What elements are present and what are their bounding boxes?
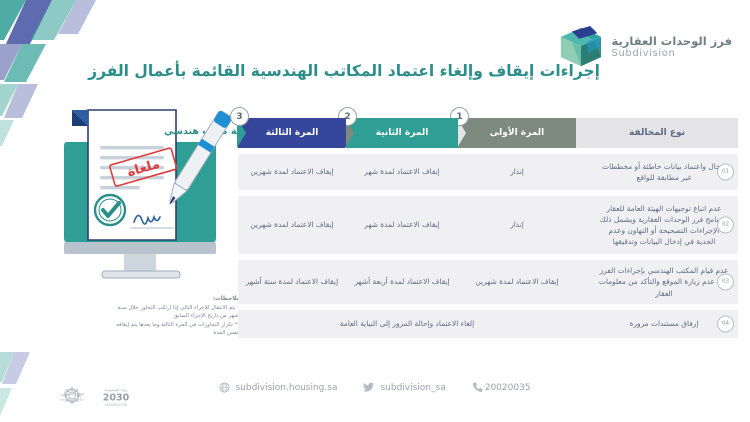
column-header-second-time-label: المرة الثانية	[376, 128, 429, 138]
violation-text: إرفاق مستندات مزورة	[582, 318, 730, 329]
twitter-icon	[363, 382, 375, 393]
violation-text: إدخال واعتماد بيانات خاطئة أو مخططات غير…	[582, 161, 730, 183]
row-number: 02	[717, 217, 734, 234]
row-number: 03	[717, 274, 734, 291]
table-header-row: نوع المخالفة 1 المرة الأولى 2 المرة الثا…	[238, 118, 738, 148]
cell-first-time: إنذار	[458, 154, 576, 190]
footer-phone[interactable]: 20020035	[472, 382, 531, 393]
license-document-illustration: رخصة مكتب هندسي ملغاة	[58, 100, 248, 300]
note-line-1: * يتم الانتقال للإجراء التالي إذا ارتكب …	[108, 304, 240, 321]
page-title: إجراءات إيقاف وإلغاء اعتماد المكاتب الهن…	[150, 62, 600, 80]
table-row: 02 عدم اتباع توجيهات الهيئة العامة للعقا…	[238, 196, 738, 254]
footer-twitter[interactable]: subdivision_sa	[363, 382, 445, 393]
table-row: 01 إدخال واعتماد بيانات خاطئة أو مخططات …	[238, 154, 738, 190]
header: فرز الوحدات العقارية Subdivision إجراءات…	[0, 0, 750, 100]
cell-third-time: إيقاف الاعتماد لمدة ستة أشهر	[238, 260, 346, 304]
table-row: 03 عدم قيام المكتب الهندسي بإجراءات الفر…	[238, 260, 738, 304]
violations-table: نوع المخالفة 1 المرة الأولى 2 المرة الثا…	[238, 118, 738, 338]
footer-phone-label: 20020035	[485, 383, 531, 393]
globe-icon	[219, 382, 230, 393]
column-header-second-time: 2 المرة الثانية	[346, 118, 458, 148]
brand-name-english: Subdivision	[612, 48, 732, 60]
note-line-2: ** تكرار التجاوزات في المرة الثالثة وما …	[108, 321, 240, 338]
infographic-page: فرز الوحدات العقارية Subdivision إجراءات…	[0, 0, 750, 422]
footer: subdivision.housing.sa subdivision_sa 20…	[0, 370, 750, 422]
cell-third-time: إيقاف الاعتماد لمدة شهرين	[238, 196, 346, 254]
cell-violation-type: 02 عدم اتباع توجيهات الهيئة العامة للعقا…	[576, 196, 738, 254]
cell-second-time: إيقاف الاعتماد لمدة أربعة أشهر	[346, 260, 458, 304]
cell-violation-type: 01 إدخال واعتماد بيانات خاطئة أو مخططات …	[576, 154, 738, 190]
cell-first-time: إنذار	[458, 196, 576, 254]
cell-first-time: إيقاف الاعتماد لمدة شهرين	[458, 260, 576, 304]
svg-text:VISION 2030: VISION 2030	[105, 403, 127, 407]
row-number: 04	[717, 316, 734, 333]
cell-second-time: إيقاف الاعتماد لمدة شهر	[346, 196, 458, 254]
column-header-third-time: 3 المرة الثالثة	[238, 118, 346, 148]
column-header-third-time-label: المرة الثالثة	[266, 128, 319, 138]
column-header-violation-type: نوع المخالفة	[576, 118, 738, 148]
violation-text: عدم قيام المكتب الهندسي بإجراءات الفرز م…	[582, 265, 730, 298]
stage-badge-3: 3	[230, 107, 249, 126]
cell-violation-type: 04 إرفاق مستندات مزورة	[576, 310, 738, 338]
cell-second-time: إيقاف الاعتماد لمدة شهر	[346, 154, 458, 190]
notes-heading: ملاحظات:	[108, 296, 240, 302]
vision-2030-logo-icon: رؤية السعودية 2030 VISION 2030	[94, 384, 138, 408]
svg-text:2030: 2030	[103, 393, 130, 404]
footer-logos: رؤية السعودية 2030 VISION 2030 برنامج ال…	[22, 384, 138, 408]
cell-merged-penalty: إلغاء الاعتماد وإحالة المزور إلى النيابة…	[238, 310, 576, 338]
footer-website-label: subdivision.housing.sa	[235, 383, 337, 393]
footer-website[interactable]: subdivision.housing.sa	[219, 382, 337, 393]
housing-program-logo-icon: برنامج الإسكان HOUSING PROGRAM	[22, 384, 84, 408]
notes-block: ملاحظات: * يتم الانتقال للإجراء التالي إ…	[108, 296, 240, 338]
brand-name-arabic: فرز الوحدات العقارية	[612, 35, 732, 48]
column-header-first-time-label: المرة الأولى	[490, 128, 544, 138]
cell-third-time: إيقاف الاعتماد لمدة شهرين	[238, 154, 346, 190]
column-header-first-time: 1 المرة الأولى	[458, 118, 576, 148]
phone-icon	[472, 382, 483, 393]
svg-text:رؤية السعودية: رؤية السعودية	[104, 387, 127, 392]
table-row: 04 إرفاق مستندات مزورة إلغاء الاعتماد وإ…	[238, 310, 738, 338]
violation-text: عدم اتباع توجيهات الهيئة العامة للعقار و…	[582, 203, 730, 247]
row-number: 01	[717, 164, 734, 181]
footer-twitter-label: subdivision_sa	[380, 383, 445, 393]
cell-violation-type: 03 عدم قيام المكتب الهندسي بإجراءات الفر…	[576, 260, 738, 304]
